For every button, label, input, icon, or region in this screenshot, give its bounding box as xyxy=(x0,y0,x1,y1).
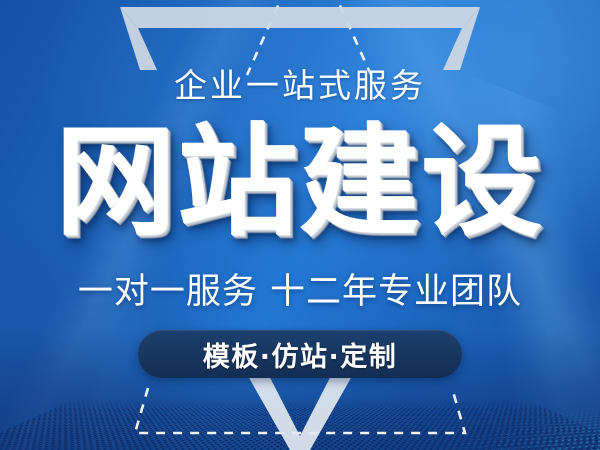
services-badge: 模板·仿站·定制 xyxy=(138,330,462,378)
tagline-text: 企业一站式服务 xyxy=(0,66,600,106)
poster-canvas: 企业一站式服务 网站建设 一对一服务 十二年专业团队 模板·仿站·定制 xyxy=(0,0,600,450)
subtitle-text: 一对一服务 十二年专业团队 xyxy=(0,270,600,314)
services-badge-label: 模板·仿站·定制 xyxy=(203,335,398,374)
page-title: 网站建设 xyxy=(0,121,600,247)
